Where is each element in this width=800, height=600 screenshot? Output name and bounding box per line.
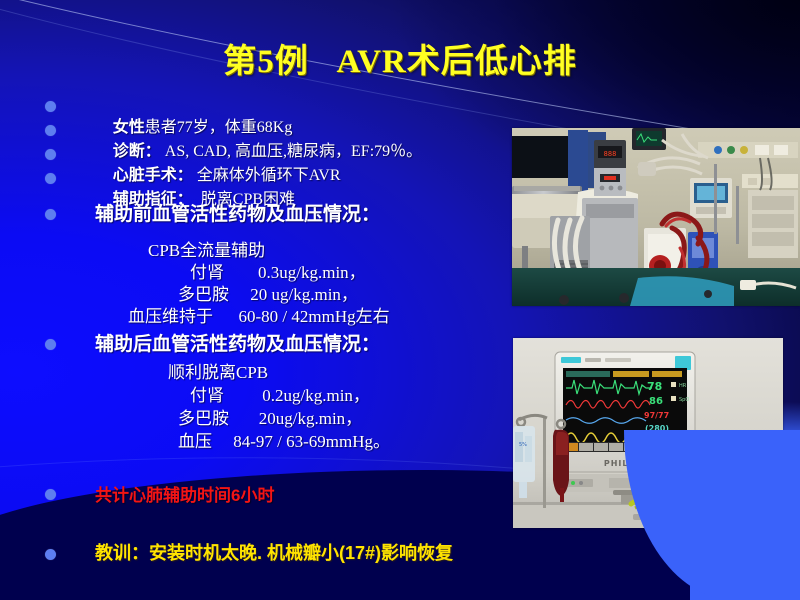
photo-operating-room-cpb-machine: 888 xyxy=(512,128,800,306)
svg-text:5%: 5% xyxy=(519,442,527,448)
bullet-marker-pre-section xyxy=(45,209,56,220)
pre-support-line-4: 血压维持于 60-80 / 42mmHg左右 xyxy=(128,302,390,327)
bullet-marker-total-support xyxy=(45,489,56,500)
bullet-marker-3 xyxy=(45,149,56,160)
slide-canvas: 第5例 AVR术后低心排 女性患者77岁，体重68Kg 诊断： AS, CAD,… xyxy=(0,0,800,600)
post-support-heading: 辅助后血管活性药物及血压情况： xyxy=(95,329,380,356)
svg-text:86: 86 xyxy=(649,396,663,407)
svg-text:HR: HR xyxy=(679,383,687,389)
background-right-wedge xyxy=(690,430,800,600)
bullet-marker-1 xyxy=(45,101,56,112)
svg-text:97/77: 97/77 xyxy=(644,411,669,420)
post-support-line-4: 血压 84-97 / 63-69mmHg。 xyxy=(178,427,390,452)
post-support-line-1: 顺利脱离CPB xyxy=(168,358,268,383)
post-support-line-3: 多巴胺 20ug/kg.min， xyxy=(178,404,362,429)
lesson-line: 教训：安装时机太晚. 机械瓣小(17#)影响恢复 xyxy=(95,539,453,565)
total-support-line: 共计心肺辅助时间6小时 xyxy=(95,481,274,506)
svg-text:SpO: SpO xyxy=(679,397,689,403)
bullet-marker-lesson xyxy=(45,549,56,560)
bullet-marker-2 xyxy=(45,125,56,136)
slide-title: 第5例 AVR术后低心排 xyxy=(0,34,800,82)
bullet-marker-post-section xyxy=(45,339,56,350)
bullet-marker-4 xyxy=(45,173,56,184)
svg-text:78: 78 xyxy=(647,380,662,393)
pre-support-heading: 辅助前血管活性药物及血压情况： xyxy=(95,199,380,226)
svg-text:888: 888 xyxy=(604,150,617,158)
post-support-line-2: 付肾 0.2ug/kg.min， xyxy=(190,381,370,406)
